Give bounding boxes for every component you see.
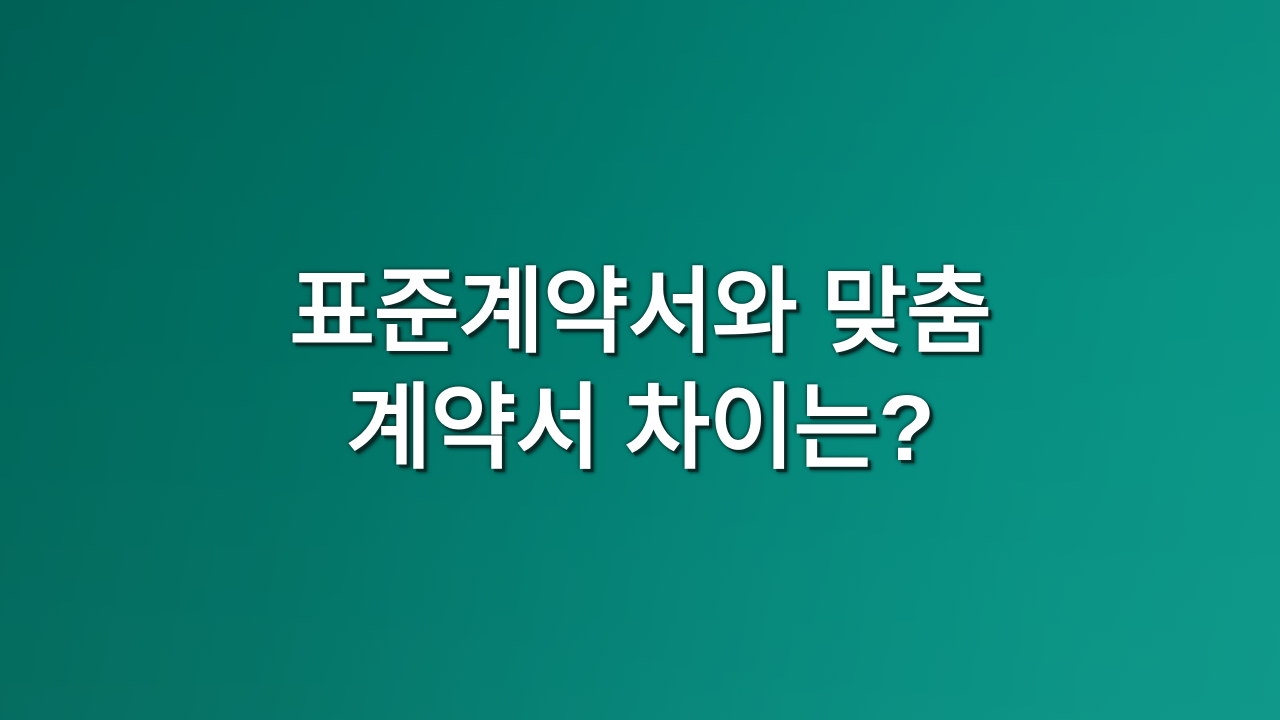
headline-line-2: 계약서 차이는? <box>346 368 934 488</box>
thumbnail-canvas: 표준계약서와 맞춤 계약서 차이는? <box>0 0 1280 720</box>
headline-line-1: 표준계약서와 맞춤 <box>289 252 990 372</box>
headline-block: 표준계약서와 맞춤 계약서 차이는? <box>0 252 1280 488</box>
